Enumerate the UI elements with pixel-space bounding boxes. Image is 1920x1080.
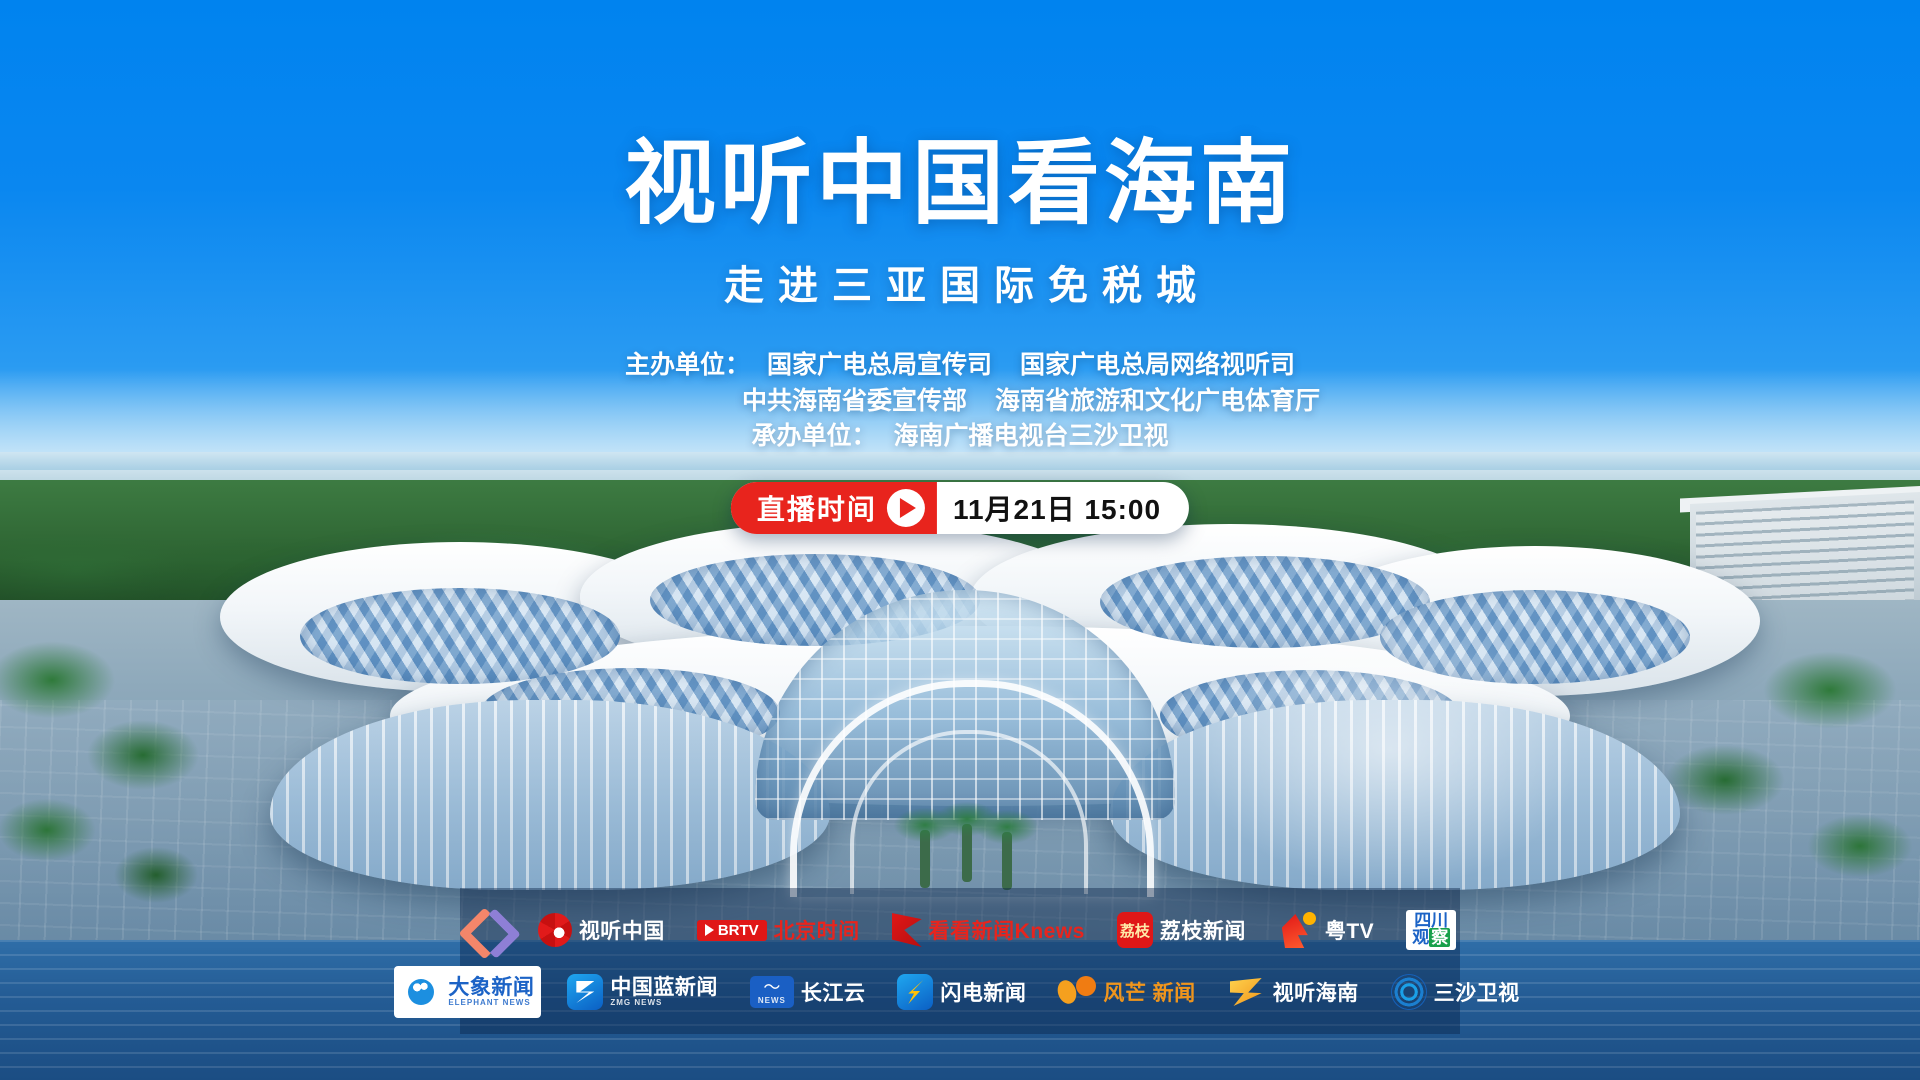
credit-org: 海南广播电视台三沙卫视	[893, 419, 1168, 455]
sichuan-bottom: 观察	[1412, 930, 1450, 947]
credit-org: 海南省旅游和文化广电体育厅	[995, 384, 1320, 420]
shandian-icon	[897, 974, 933, 1010]
logo-m-media[interactable]	[458, 905, 512, 955]
credit-label: 主办单位：	[625, 348, 767, 384]
credit-org: 国家广电总局网络视听司	[1020, 348, 1295, 384]
logo-zhongguolan-news[interactable]: 中国蓝新闻 ZMG NEWS	[561, 967, 724, 1017]
credit-orgs: 中共海南省委宣传部 海南省旅游和文化广电体育厅	[742, 384, 1320, 420]
roof-deck-left	[300, 588, 620, 684]
logo-sichuan-guancha[interactable]: 四川 观察	[1400, 905, 1462, 955]
credits-block: 主办单位： 国家广电总局宣传司 国家广电总局网络视听司 中共海南省委宣传部 海南…	[0, 348, 1920, 455]
zmg-icon	[567, 974, 603, 1010]
paw-shape	[408, 979, 434, 1005]
logo-label: 荔枝新闻	[1160, 915, 1246, 945]
logo-row-2: 大象新闻 ELEPHANT NEWS 中国蓝新闻 ZMG NEWS 〜 NEWS…	[460, 963, 1460, 1021]
credit-orgs: 海南广播电视台三沙卫视	[893, 419, 1168, 455]
elephant-icon	[401, 976, 441, 1008]
poster-root: 视听中国看海南 走进三亚国际免税城 主办单位： 国家广电总局宣传司 国家广电总局…	[0, 0, 1920, 1080]
credit-org: 国家广电总局宣传司	[767, 348, 992, 384]
live-datetime: 11月21日 15:00	[937, 482, 1189, 534]
palm-tree	[920, 830, 930, 888]
logo-sublabel: ZMG NEWS	[610, 999, 718, 1007]
logo-label: 闪电新闻	[940, 977, 1026, 1007]
changjiangyun-icon: 〜 NEWS	[750, 976, 794, 1007]
live-time-badge[interactable]: 直播时间 11月21日 15:00	[731, 482, 1189, 534]
play-icon[interactable]	[887, 489, 925, 527]
shitinghainan-icon	[1228, 975, 1266, 1009]
mall-building	[150, 530, 1770, 950]
credit-row: 承办单位： 海南广播电视台三沙卫视	[751, 419, 1168, 455]
kanka-icon	[892, 913, 922, 947]
logo-label: 看看新闻Knews	[929, 915, 1085, 945]
palm-tree	[1002, 832, 1012, 890]
roof-deck-right	[1380, 590, 1690, 684]
credit-row: 中共海南省委宣传部 海南省旅游和文化广电体育厅	[600, 384, 1320, 420]
logo-daxiang-news[interactable]: 大象新闻 ELEPHANT NEWS	[394, 966, 541, 1018]
sichuan-icon: 四川 观察	[1406, 910, 1456, 949]
logo-changjiang-yun[interactable]: 〜 NEWS 长江云	[744, 967, 872, 1017]
logo-col: 中国蓝新闻 ZMG NEWS	[610, 977, 718, 1007]
credit-label	[600, 384, 742, 420]
logo-label: 风芒 新闻	[1103, 977, 1195, 1007]
live-badge-left: 直播时间	[731, 482, 937, 534]
play-triangle	[705, 924, 714, 936]
logo-shiting-hainan[interactable]: 视听海南	[1222, 967, 1365, 1017]
palm-tree	[962, 824, 972, 882]
logo-label: 视听海南	[1273, 977, 1359, 1007]
logo-fengmang-news[interactable]: 风芒 新闻	[1052, 967, 1201, 1017]
logo-row-1: 视听中国 BRTV 北京时间 看看新闻Knews 荔枝 荔枝新闻 粤TV 四川	[460, 901, 1460, 959]
page-subtitle: 走进三亚国际免税城	[0, 266, 1920, 306]
logo-label: 粤TV	[1325, 915, 1374, 945]
logo-label: 大象新闻	[448, 977, 534, 999]
logo-shiting-zhongguo[interactable]: 视听中国	[532, 905, 671, 955]
facade-right	[1110, 700, 1680, 890]
logo-label: 北京时间	[774, 915, 860, 945]
logo-sansha-tv[interactable]: 三沙卫视	[1385, 967, 1526, 1017]
swoosh-shape: 〜	[763, 979, 780, 996]
spiral-icon	[538, 913, 572, 947]
credit-org: 中共海南省委宣传部	[742, 384, 967, 420]
logo-label: 中国蓝新闻	[610, 977, 718, 999]
live-label: 直播时间	[757, 488, 877, 528]
credit-orgs: 国家广电总局宣传司 国家广电总局网络视听司	[767, 348, 1295, 384]
logo-label: 三沙卫视	[1434, 977, 1520, 1007]
logo-kankan-knews[interactable]: 看看新闻Knews	[886, 905, 1091, 955]
logo-label: 视听中国	[579, 915, 665, 945]
play-triangle	[900, 498, 916, 518]
brtv-icon: BRTV	[697, 920, 767, 941]
logo-beijing-shijian[interactable]: BRTV 北京时间	[691, 905, 866, 955]
m-icon	[464, 913, 506, 947]
logo-sublabel: ELEPHANT NEWS	[448, 999, 534, 1007]
partner-logo-bar: 视听中国 BRTV 北京时间 看看新闻Knews 荔枝 荔枝新闻 粤TV 四川	[460, 888, 1460, 1034]
credit-label: 承办单位：	[751, 419, 893, 455]
fengmang-icon	[1058, 976, 1096, 1008]
logo-col: 大象新闻 ELEPHANT NEWS	[448, 977, 534, 1007]
logo-yue-tv[interactable]: 粤TV	[1272, 905, 1380, 955]
logo-lizhi-news[interactable]: 荔枝 荔枝新闻	[1111, 905, 1252, 955]
credit-row: 主办单位： 国家广电总局宣传司 国家广电总局网络视听司	[625, 348, 1295, 384]
lizhi-icon: 荔枝	[1117, 912, 1153, 948]
yuetv-icon	[1278, 912, 1318, 948]
page-title: 视听中国看海南	[0, 138, 1920, 230]
logo-shandian-news[interactable]: 闪电新闻	[891, 967, 1032, 1017]
logo-sublabel: NEWS	[758, 997, 786, 1005]
logo-label: 长江云	[801, 977, 866, 1007]
sansha-icon	[1391, 974, 1427, 1010]
